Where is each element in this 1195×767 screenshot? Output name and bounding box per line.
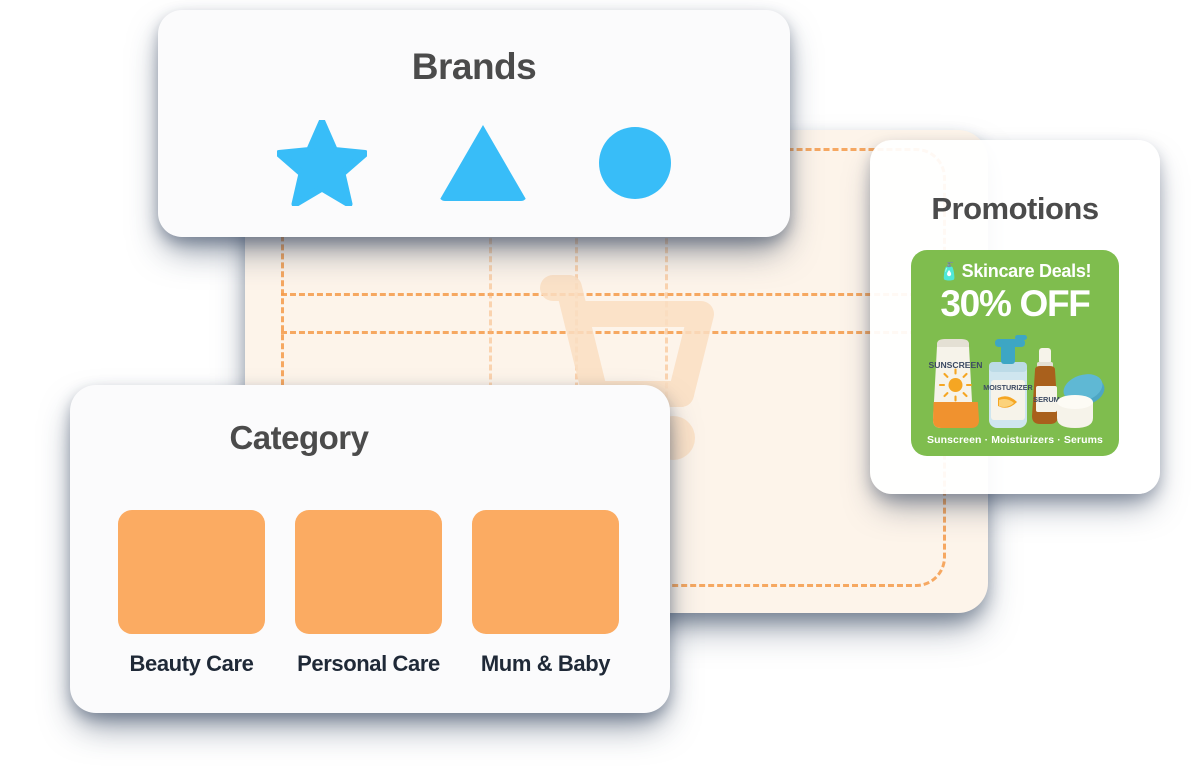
screenshot-stage: Brands Promotions 🧴Skincare Deals! 30% O… <box>0 0 1195 767</box>
star-icon[interactable] <box>277 120 367 206</box>
promotion-footer: Sunscreen · Moisturizers · Serums <box>911 434 1119 446</box>
category-card-title: Category <box>70 419 528 457</box>
svg-text:SERUM: SERUM <box>1033 395 1060 404</box>
category-item-label: Personal Care <box>295 651 442 677</box>
category-thumbnail <box>295 510 442 634</box>
category-item-label: Mum & Baby <box>472 651 619 677</box>
category-item-beauty-care[interactable]: Beauty Care <box>118 510 265 677</box>
promotion-banner[interactable]: 🧴Skincare Deals! 30% OFF SUNSCREEN <box>911 250 1119 456</box>
category-card: Category Beauty Care Personal Care Mum &… <box>70 385 670 713</box>
brands-carousel <box>158 113 790 213</box>
sunscreen-tube-icon: 🧴 <box>939 262 960 281</box>
promotion-headline: 🧴Skincare Deals! <box>911 261 1119 282</box>
product-serum-bottle: SERUM <box>1032 348 1060 424</box>
product-moisturizer-bottle: MOISTURIZER <box>983 335 1033 428</box>
promotions-card-title: Promotions <box>870 191 1160 227</box>
promotion-offer: 30% OFF <box>911 283 1119 325</box>
category-thumbnail <box>118 510 265 634</box>
svg-text:MOISTURIZER: MOISTURIZER <box>983 383 1033 392</box>
category-item-personal-care[interactable]: Personal Care <box>295 510 442 677</box>
promotion-headline-text: Skincare Deals! <box>962 261 1092 281</box>
category-item-mum-and-baby[interactable]: Mum & Baby <box>472 510 619 677</box>
circle-icon[interactable] <box>599 127 671 199</box>
triangle-icon[interactable] <box>439 125 527 201</box>
product-sunscreen-tube: SUNSCREEN <box>929 339 983 428</box>
brands-card-title: Brands <box>158 46 790 88</box>
category-list: Beauty Care Personal Care Mum & Baby <box>118 510 619 677</box>
category-item-label: Beauty Care <box>118 651 265 677</box>
brands-card: Brands <box>158 10 790 237</box>
product-cream-jar <box>1057 369 1108 428</box>
category-thumbnail <box>472 510 619 634</box>
skincare-products-illustration: SUNSCREEN M <box>919 330 1111 442</box>
promotions-card: Promotions 🧴Skincare Deals! 30% OFF SUNS… <box>870 140 1160 494</box>
